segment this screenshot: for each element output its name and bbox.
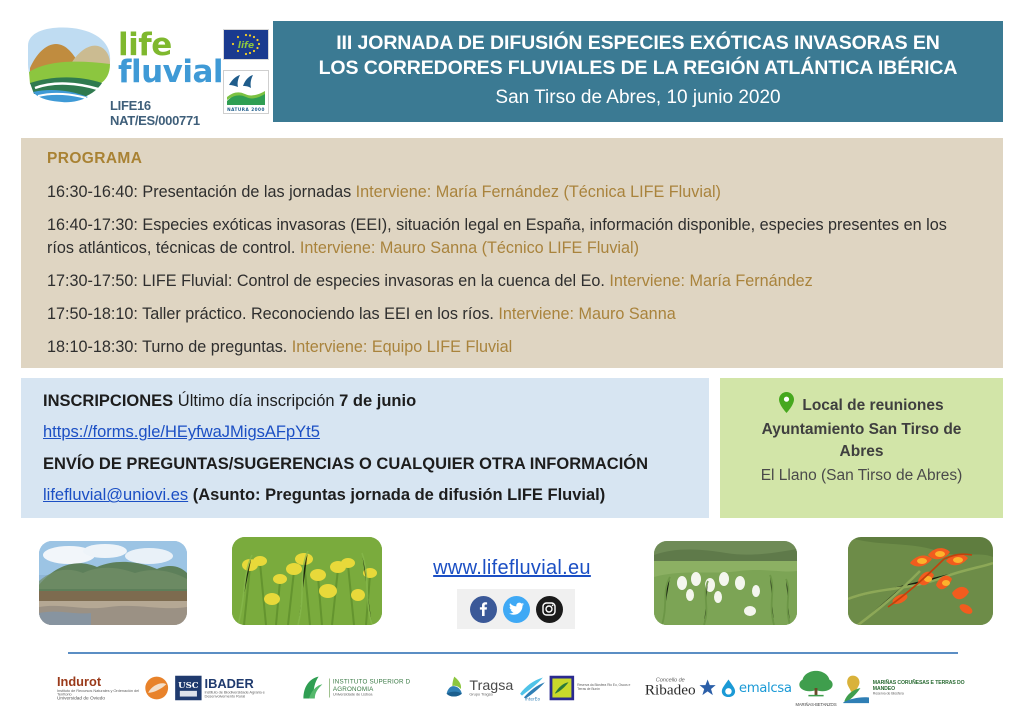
registration-deadline-date: 7 de junio: [339, 392, 416, 410]
partner-logo-indurot-sub2: Universidad de Oviedo: [57, 696, 142, 701]
location-title-line-3: Abres: [730, 441, 993, 462]
program-section: PROGRAMA 16:30-16:40: Presentación de la…: [21, 138, 1003, 368]
website-link[interactable]: www.lifefluvial.eu: [0, 557, 1024, 580]
intereo-label: interEo: [525, 696, 541, 701]
location-heading: Local de reuniones Ayuntamiento San Tirs…: [730, 392, 993, 462]
program-item: 17:30-17:50: LIFE Fluvial: Control de es…: [47, 270, 977, 293]
facebook-icon[interactable]: [470, 596, 497, 623]
partner-logo-isa-sub: Universidade de Lisboa: [332, 693, 436, 697]
title-banner: III JORNADA DE DIFUSIÓN ESPECIES EXÓTICA…: [273, 21, 1003, 122]
poster-root: life fluvial LIFE16 NAT/ES/000771 life: [0, 0, 1024, 725]
program-item: 16:30-16:40: Presentación de las jornada…: [47, 181, 977, 204]
biosphere-emblem-icon: [549, 676, 574, 701]
program-item: 16:40-17:30: Especies exóticas invasoras…: [47, 214, 977, 260]
gallery-photo-calla-lilies: [654, 541, 797, 625]
partner-logo-ribadeo-name: Ribadeo: [645, 683, 696, 698]
registration-label: INSCRIPCIONES: [43, 392, 173, 410]
isa-emblem-icon: [299, 674, 326, 703]
program-item-speaker: Interviene: Mauro Sanna (Técnico LIFE Fl…: [300, 239, 639, 257]
partner-logo-indurot-name: Indurot: [57, 675, 142, 688]
program-heading: PROGRAMA: [47, 150, 977, 168]
program-item-text: 17:30-17:50: LIFE Fluvial: Control de es…: [47, 272, 609, 290]
twitter-icon[interactable]: [503, 596, 530, 623]
eu-life-flag-icon: life: [223, 29, 269, 60]
registration-deadline-text: Último día inscripción: [173, 392, 339, 410]
partner-logo-ibader: USC IBADER Instituto de Biodiversidade A…: [175, 676, 292, 701]
ribadeo-star-icon: [698, 679, 717, 698]
contact-email-note: (Asunto: Preguntas jornada de difusión L…: [188, 486, 605, 504]
contact-email-link[interactable]: lifefluvial@uniovi.es: [43, 486, 188, 504]
partner-logo-tragsa: Tragsa Grupo Tragsa: [442, 675, 513, 702]
partner-logo-ibader-name: IBADER: [205, 678, 293, 691]
program-item-speaker: Interviene: María Fernández (Técnica LIF…: [356, 183, 721, 201]
natura-2000-logo: NATURA 2000: [223, 70, 269, 114]
footer-divider: [68, 652, 958, 654]
life-fluvial-logo-mark: [22, 26, 114, 104]
partner-logo-marinas-betanzos-name: MARIÑAS-BETANZOS: [795, 702, 837, 707]
partner-logo-emalcsa-name: emalcsa: [739, 680, 792, 695]
program-item: 18:10-18:30: Turno de preguntas. Intervi…: [47, 336, 977, 359]
life-fluvial-logo: life fluvial LIFE16 NAT/ES/000771: [22, 26, 222, 118]
partner-logo-intereo-sub: Reserva da Biosfera Rio Eo, Oscos e Terr…: [577, 685, 640, 692]
logo-word-fluvial: fluvial: [118, 59, 223, 86]
indurot-emblem-icon: [144, 676, 169, 701]
poster-header: life fluvial LIFE16 NAT/ES/000771 life: [0, 0, 1024, 130]
location-address: El Llano (San Tirso de Abres): [730, 466, 993, 486]
partner-logo-emalcsa: emalcsa: [721, 679, 792, 698]
partner-logo-marinas-corunesas-name: MARIÑAS CORUÑESAS E TERRAS DO MANDEO: [873, 680, 973, 692]
registration-deadline-line: INSCRIPCIONES Último día inscripción 7 d…: [43, 390, 687, 413]
program-item-text: 16:30-16:40: Presentación de las jornada…: [47, 183, 356, 201]
program-item: 17:50-18:10: Taller práctico. Reconocien…: [47, 303, 977, 326]
banner-subtitle: San Tirso de Abres, 10 junio 2020: [495, 84, 780, 112]
partner-logo-isa-name: INSTITUTO SUPERIOR D AGRONOMIA: [332, 679, 436, 693]
svg-text:NATURA 2000: NATURA 2000: [227, 107, 265, 112]
registration-form-line: https://forms.gle/HEyfwaJMigsAFpYt5: [43, 421, 687, 444]
partner-logo-indurot: Indurot Instituto de Recursos Naturales …: [57, 675, 169, 701]
partner-logo-tragsa-sub: Grupo Tragsa: [469, 693, 513, 697]
partner-logo-marinas-corunesas: MARIÑAS CORUÑESAS E TERRAS DO MANDEO Res…: [841, 673, 972, 703]
program-item-speaker: Interviene: Mauro Sanna: [498, 305, 675, 323]
usc-shield-icon: USC: [175, 676, 202, 701]
svg-text:life: life: [238, 41, 254, 51]
life-fluvial-wordmark: life fluvial: [118, 32, 223, 85]
partner-logo-tragsa-name: Tragsa: [469, 679, 513, 693]
contact-email-line: lifefluvial@uniovi.es (Asunto: Preguntas…: [43, 484, 687, 507]
questions-heading: ENVÍO DE PREGUNTAS/SUGERENCIAS O CUALQUI…: [43, 453, 687, 476]
emalcsa-drop-icon: [721, 679, 736, 698]
registration-form-link[interactable]: https://forms.gle/HEyfwaJMigsAFpYt5: [43, 423, 320, 441]
partner-logo-isa: INSTITUTO SUPERIOR D AGRONOMIA Universid…: [299, 674, 436, 703]
banner-title-line-2: LOS CORREDORES FLUVIALES DE LA REGIÓN AT…: [319, 56, 958, 81]
partner-logo-intereo: interEo Reserva da Biosfera Rio Eo, Osco…: [518, 675, 640, 702]
program-item-speaker: Interviene: Equipo LIFE Fluvial: [292, 338, 512, 356]
svg-text:USC: USC: [178, 681, 199, 691]
location-title-line-2: Ayuntamiento San Tirso de: [730, 419, 993, 440]
marinas-corunesas-emblem-icon: [841, 673, 870, 703]
program-item-speaker: Interviene: María Fernández: [609, 272, 812, 290]
location-section: Local de reuniones Ayuntamiento San Tirs…: [720, 378, 1003, 518]
project-code-label: LIFE16 NAT/ES/000771: [110, 98, 222, 128]
partner-logo-marinas-corunesas-sub: Reserva de Biosfera: [873, 692, 973, 696]
program-item-text: 17:50-18:10: Taller práctico. Reconocien…: [47, 305, 498, 323]
intereo-emblem-icon: interEo: [518, 675, 547, 702]
marinas-betanzos-tree-icon: [795, 669, 837, 698]
gallery-photo-river-bank: [39, 541, 187, 625]
banner-title-line-1: III JORNADA DE DIFUSIÓN ESPECIES EXÓTICA…: [336, 31, 940, 56]
partner-logo-ibader-sub: Instituto de Biodiversidade Agraria e De…: [205, 690, 293, 698]
social-links-bar: [457, 589, 575, 629]
partner-logo-ribadeo: Concello de Ribadeo: [645, 678, 718, 699]
location-pin-icon: [779, 392, 794, 419]
registration-section: INSCRIPCIONES Último día inscripción 7 d…: [21, 378, 709, 518]
gallery-photo-crocosmia: [848, 537, 993, 625]
tragsa-emblem-icon: [442, 675, 467, 702]
location-title-line-1: Local de reuniones: [802, 397, 943, 414]
program-item-text: 18:10-18:30: Turno de preguntas.: [47, 338, 292, 356]
partner-logos: Indurot Instituto de Recursos Naturales …: [40, 658, 990, 718]
instagram-icon[interactable]: [536, 596, 563, 623]
gallery-photo-yellow-flowers: [232, 537, 382, 625]
partner-logo-marinas-betanzos: MARIÑAS-BETANZOS: [795, 669, 837, 707]
